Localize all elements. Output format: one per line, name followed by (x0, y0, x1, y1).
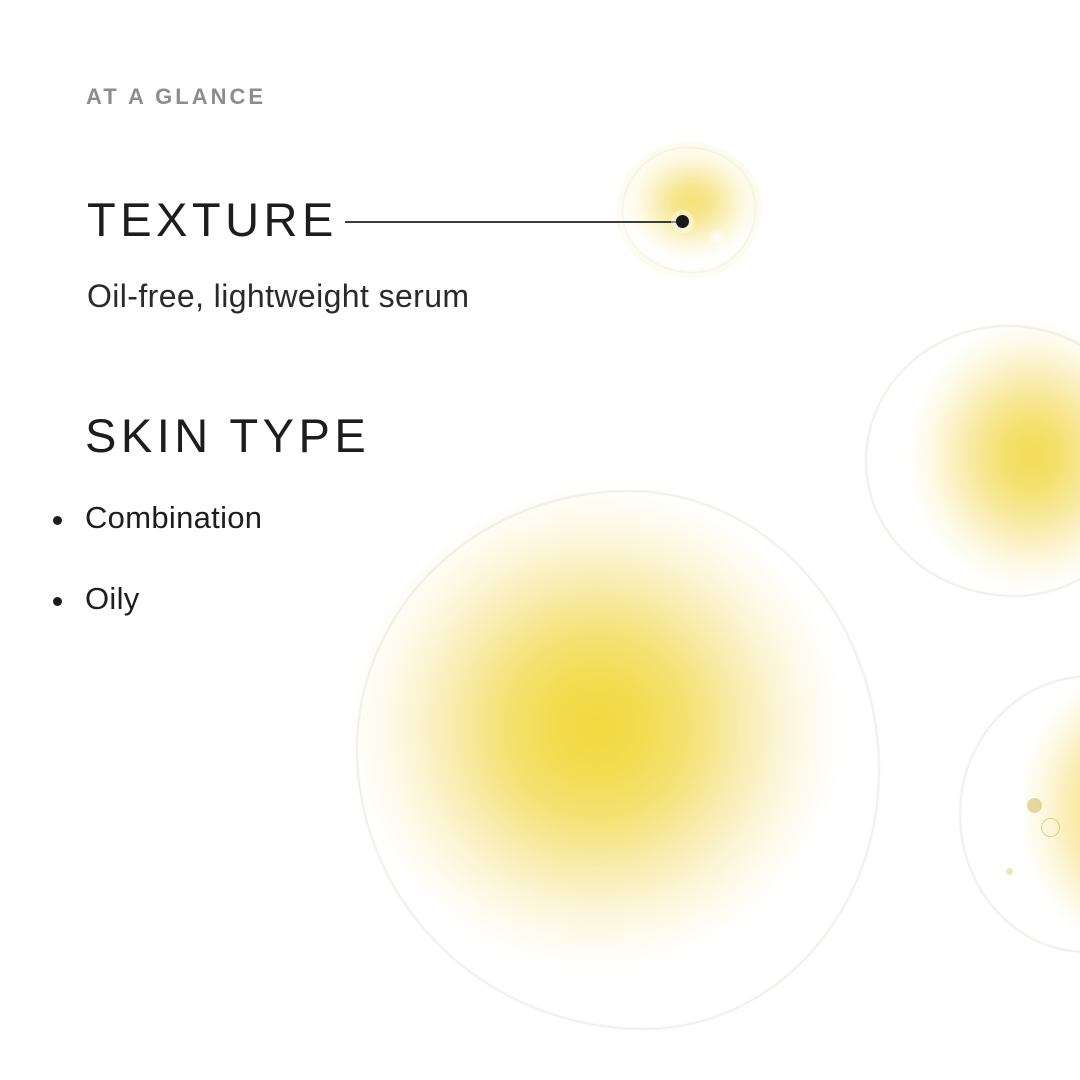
texture-leader-line (345, 221, 683, 223)
section-heading-skin-type: SKIN TYPE (85, 412, 370, 459)
bullet-dot-icon (53, 597, 62, 606)
list-item: Oily (52, 581, 262, 618)
list-item-label: Oily (85, 581, 140, 616)
section-heading-texture: TEXTURE (87, 196, 338, 243)
list-item: Combination (52, 500, 262, 537)
eyebrow-label: AT A GLANCE (86, 84, 266, 110)
list-item-label: Combination (85, 500, 262, 535)
bullet-dot-icon (53, 516, 62, 525)
texture-leader-dot (676, 215, 689, 228)
product-infographic: AT A GLANCE TEXTURE Oil-free, lightweigh… (0, 0, 1080, 1080)
text-content-layer: AT A GLANCE TEXTURE Oil-free, lightweigh… (0, 0, 1080, 1080)
texture-description: Oil-free, lightweight serum (87, 278, 470, 315)
skin-type-list: Combination Oily (52, 500, 262, 661)
